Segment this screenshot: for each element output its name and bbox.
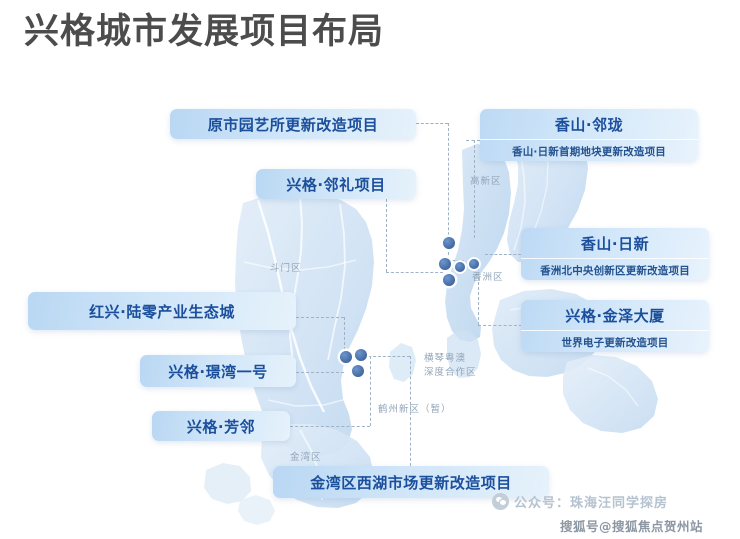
label-chip-xingge-jinze-top: 兴格·金泽大厦 bbox=[521, 300, 709, 331]
map-island-sw2 bbox=[238, 495, 275, 525]
label-chip-xingge-lingli[interactable]: 兴格·邻礼项目 bbox=[256, 169, 416, 199]
map-marker-6[interactable] bbox=[340, 351, 352, 363]
label-chip-xiangshan-linglong-subtitle: 香山·日新首期地块更新改造项目 bbox=[512, 144, 666, 159]
connector-hongxing-h1 bbox=[296, 317, 344, 318]
map-region-label-hengqin: 横琴粤澳 深度合作区 bbox=[424, 352, 477, 380]
map-marker-3[interactable] bbox=[455, 262, 465, 272]
connector-linglong-h1 bbox=[466, 140, 480, 141]
connector-jinwan-xihu-v1 bbox=[410, 356, 411, 466]
map-region-label-jinwan: 金湾区 bbox=[290, 451, 322, 464]
label-chip-jinwan-xihu-title: 金湾区西湖市场更新改造项目 bbox=[310, 472, 512, 493]
map-marker-4[interactable] bbox=[469, 259, 479, 269]
label-chip-xingge-fanglin-title: 兴格·芳邻 bbox=[187, 416, 255, 437]
map-region-label-doumen: 斗门区 bbox=[270, 262, 302, 275]
connector-lingli-v1 bbox=[386, 199, 387, 272]
label-chip-xiangshan-rixin-subtitle: 香洲北中央创新区更新改造项目 bbox=[540, 263, 690, 278]
connector-rixin-h1 bbox=[485, 254, 521, 255]
label-chip-xingge-jinze-bottom: 世界电子更新改造项目 bbox=[521, 331, 709, 352]
label-chip-hongxing-luling-title: 红兴·陆零产业生态城 bbox=[89, 301, 235, 322]
label-chip-xiangshan-linglong-title: 香山·邻珑 bbox=[555, 114, 623, 135]
label-chip-xiangshan-rixin-bottom: 香洲北中央创新区更新改造项目 bbox=[521, 259, 709, 280]
label-chip-yuanshi-yuanyi[interactable]: 原市园艺所更新改造项目 bbox=[170, 109, 416, 139]
label-chip-xingge-jinze[interactable]: 兴格·金泽大厦 世界电子更新改造项目 bbox=[521, 300, 709, 352]
map-region-label-xiangzhou: 香洲区 bbox=[472, 271, 504, 284]
connector-jinze-h1 bbox=[478, 325, 522, 326]
label-chip-xingge-fanglin[interactable]: 兴格·芳邻 bbox=[152, 411, 290, 441]
infographic-canvas: 兴格城市发展项目布局 bbox=[0, 0, 740, 539]
label-chip-xingge-jinze-subtitle: 世界电子更新改造项目 bbox=[562, 335, 669, 350]
label-chip-xingge-lingli-title: 兴格·邻礼项目 bbox=[286, 174, 385, 195]
label-chip-xingge-jingwan[interactable]: 兴格·璟湾一号 bbox=[140, 355, 296, 387]
map-island-sw1 bbox=[204, 463, 251, 504]
connector-jinwan-xihu-h1 bbox=[344, 356, 410, 357]
map-marker-1[interactable] bbox=[443, 237, 455, 249]
label-chip-hongxing-luling[interactable]: 红兴·陆零产业生态城 bbox=[28, 292, 296, 330]
watermark-wechat: 公众号：珠海汪同学探房 bbox=[492, 492, 668, 511]
connector-jinze-v1 bbox=[478, 262, 479, 325]
watermark-wechat-text: 公众号：珠海汪同学探房 bbox=[514, 492, 668, 511]
map-island-thin bbox=[389, 343, 416, 382]
label-chip-xiangshan-linglong-top: 香山·邻珑 bbox=[480, 109, 698, 140]
map-marker-5[interactable] bbox=[443, 274, 455, 286]
map-marker-7[interactable] bbox=[355, 349, 367, 361]
label-chip-xiangshan-linglong-bottom: 香山·日新首期地块更新改造项目 bbox=[480, 140, 698, 161]
connector-lingli-h1 bbox=[386, 272, 448, 273]
map-region-label-hezhou: 鹤州新区（暂） bbox=[378, 403, 452, 416]
label-chip-xiangshan-linglong[interactable]: 香山·邻珑 香山·日新首期地块更新改造项目 bbox=[480, 109, 698, 161]
label-chip-xiangshan-rixin-top: 香山·日新 bbox=[521, 228, 709, 259]
label-chip-xiangshan-rixin-title: 香山·日新 bbox=[581, 233, 649, 254]
label-chip-xingge-jinze-title: 兴格·金泽大厦 bbox=[565, 305, 664, 326]
wechat-icon bbox=[492, 493, 509, 510]
map-region-label-hengqin-line1: 横琴粤澳 bbox=[424, 352, 477, 366]
label-chip-xingge-jingwan-title: 兴格·璟湾一号 bbox=[168, 361, 267, 382]
map-marker-8[interactable] bbox=[352, 365, 364, 377]
watermark-sohu: 搜狐号@搜狐焦点贺州站 bbox=[560, 516, 703, 535]
label-chip-yuanshi-yuanyi-title: 原市园艺所更新改造项目 bbox=[208, 114, 379, 135]
map-marker-2[interactable] bbox=[439, 258, 451, 270]
connector-hongxing-v1 bbox=[344, 317, 345, 355]
map-region-label-hengqin-line2: 深度合作区 bbox=[424, 366, 477, 380]
connector-jingwan-h1 bbox=[296, 372, 344, 373]
connector-fanglin-h1 bbox=[290, 426, 370, 427]
label-chip-xiangshan-rixin[interactable]: 香山·日新 香洲北中央创新区更新改造项目 bbox=[521, 228, 709, 280]
map-landmass-hengqin bbox=[563, 355, 658, 433]
connector-fanglin-v1 bbox=[370, 356, 371, 426]
connector-linglong-v1 bbox=[474, 140, 475, 238]
connector-yuanshi-h1 bbox=[416, 123, 448, 124]
